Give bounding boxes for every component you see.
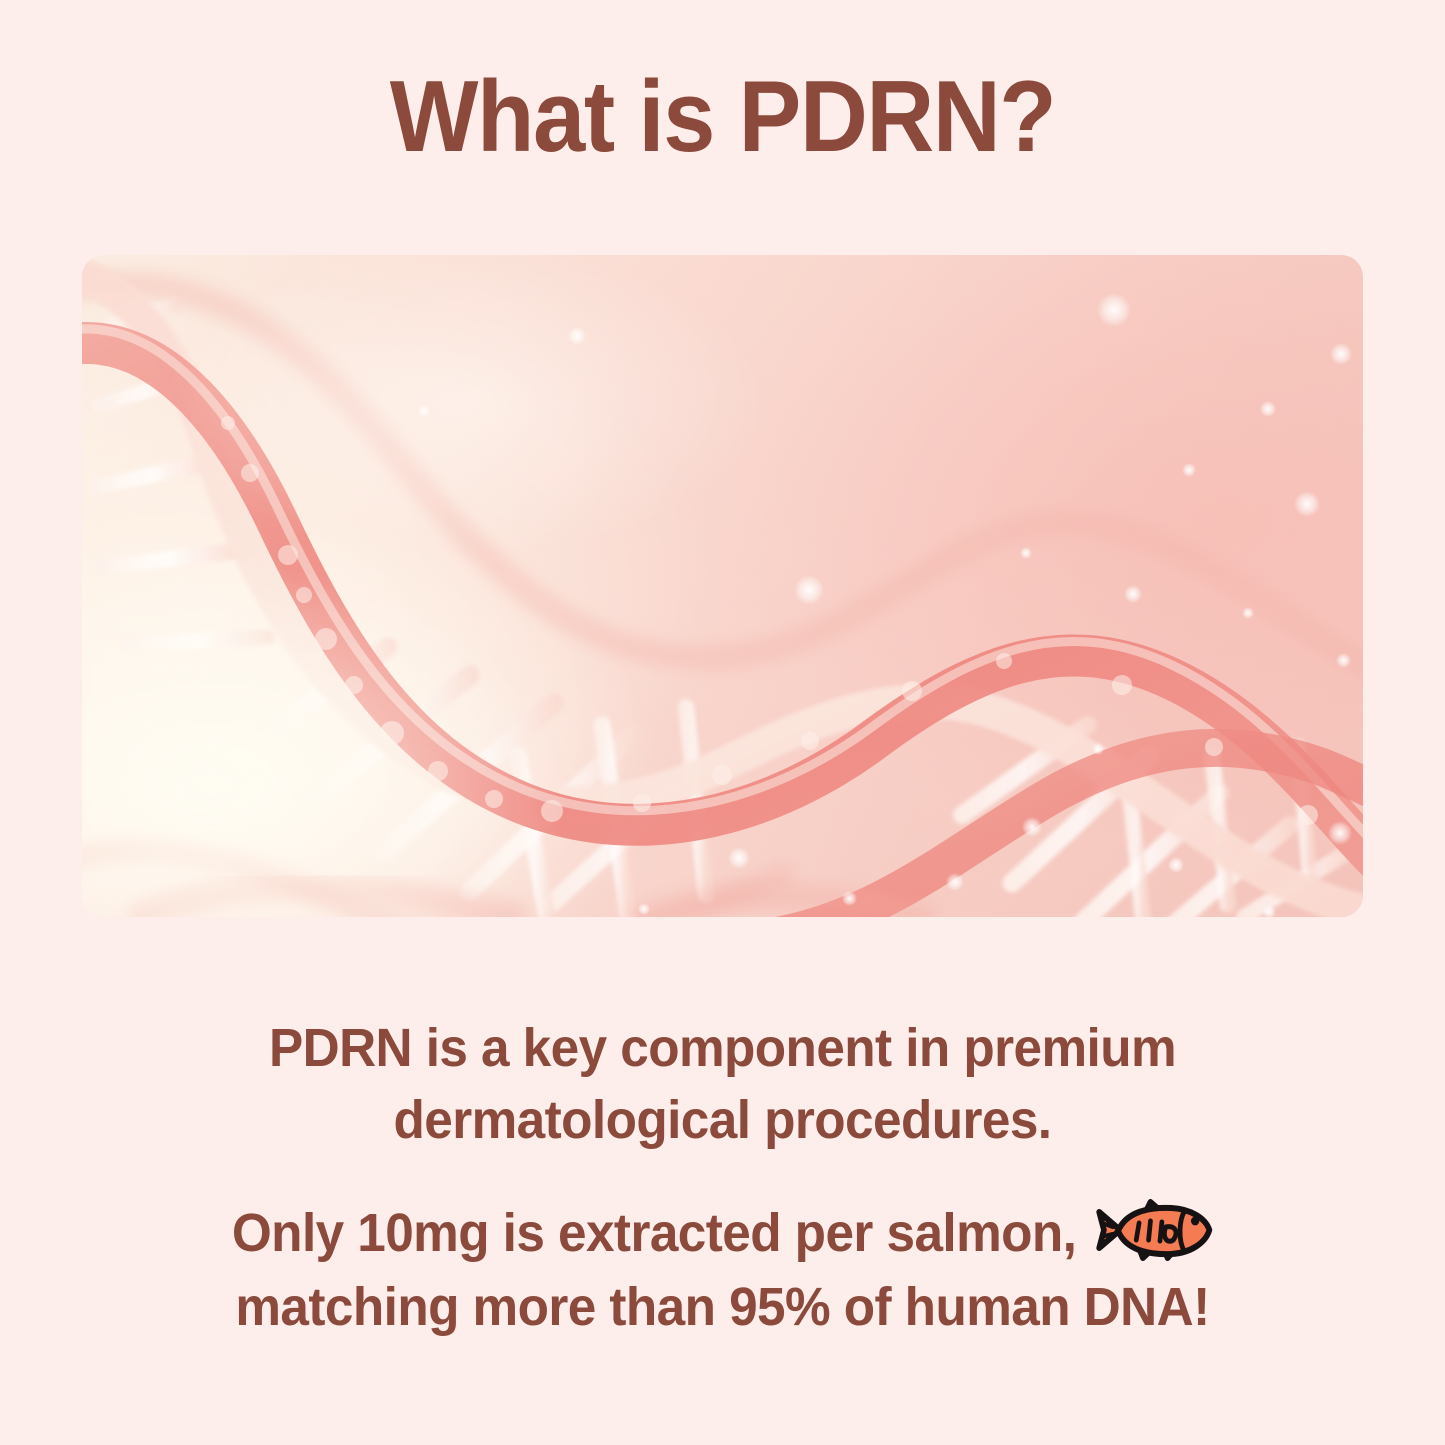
- paragraph-2-line-2: matching more than 95% of human DNA!: [36, 1272, 1409, 1344]
- salmon-fish-icon: [1092, 1196, 1214, 1266]
- body-paragraph-1: PDRN is a key component in premium derma…: [36, 1013, 1409, 1157]
- paragraph-2-line-1: Only 10mg is extracted per salmon,: [232, 1198, 1077, 1270]
- page-title: What is PDRN?: [51, 62, 1395, 173]
- dna-helix-image: [82, 255, 1363, 917]
- paragraph-1-line-2: dermatological procedures.: [36, 1085, 1409, 1157]
- bokeh-particles: [82, 255, 1363, 917]
- paragraph-1-line-1: PDRN is a key component in premium: [36, 1013, 1409, 1085]
- paragraph-2-line-1-row: Only 10mg is extracted per salmon,: [36, 1196, 1409, 1272]
- body-paragraph-2: Only 10mg is extracted per salmon,: [36, 1196, 1409, 1344]
